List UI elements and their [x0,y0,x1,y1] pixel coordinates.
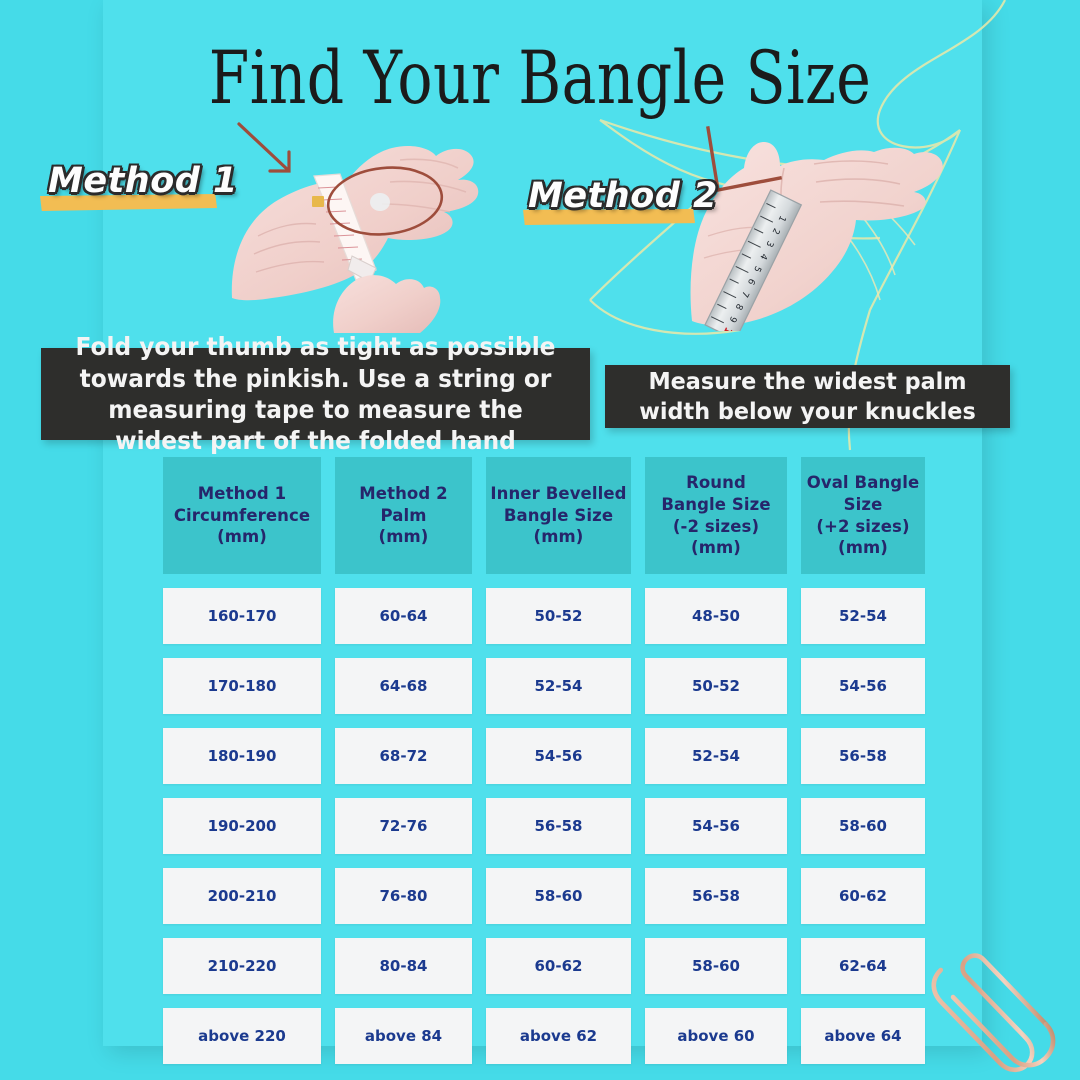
paperclip-icon [916,920,1080,1080]
table-cell: 52-54 [486,658,631,714]
table-header-cell-3: RoundBangle Size(-2 sizes)(mm) [645,457,787,574]
table-row: 160-17060-6450-5248-5052-54 [163,588,921,644]
table-row: 180-19068-7254-5652-5456-58 [163,728,921,784]
table-header-cell-text: Method 1Circumference(mm) [174,483,310,548]
table-row: 210-22080-8460-6258-6062-64 [163,938,921,994]
method-1-instruction-box: Fold your thumb as tight as possible tow… [41,348,590,440]
table-cell: 60-62 [801,868,925,924]
method-1-label: Method 1 [48,161,238,201]
table-row: 170-18064-6852-5450-5254-56 [163,658,921,714]
method-2-photo: 12 34 56 78 9 10 [688,116,958,331]
table-header-cell-text: Inner BevelledBangle Size(mm) [490,483,626,548]
table-cell: above 62 [486,1008,631,1064]
table-cell: 56-58 [645,868,787,924]
table-cell: 62-64 [801,938,925,994]
table-cell: 54-56 [486,728,631,784]
table-cell: 58-60 [486,868,631,924]
table-cell: 76-80 [335,868,472,924]
table-row: 190-20072-7656-5854-5658-60 [163,798,921,854]
table-cell: above 84 [335,1008,472,1064]
table-cell: 68-72 [335,728,472,784]
table-header-cell-0: Method 1Circumference(mm) [163,457,321,574]
table-cell: 54-56 [645,798,787,854]
poster-root: Find Your Bangle Size [0,0,1080,1080]
table-cell: 52-54 [801,588,925,644]
table-cell: 52-54 [645,728,787,784]
table-cell: 170-180 [163,658,321,714]
table-cell: above 64 [801,1008,925,1064]
table-cell: 72-76 [335,798,472,854]
method-1-photo [230,108,520,333]
table-cell: 50-52 [645,658,787,714]
table-header-cell-text: Method 2Palm(mm) [359,483,447,548]
table-cell: 160-170 [163,588,321,644]
table-cell: 48-50 [645,588,787,644]
table-cell: 58-60 [801,798,925,854]
table-cell: 80-84 [335,938,472,994]
table-cell: 200-210 [163,868,321,924]
method-2-instruction-box: Measure the widest palm width below your… [605,365,1010,428]
table-body: 160-17060-6450-5248-5052-54170-18064-685… [163,588,921,1064]
table-row: above 220above 84above 62above 60above 6… [163,1008,921,1064]
table-cell: 210-220 [163,938,321,994]
method-2-instruction-text: Measure the widest palm width below your… [627,367,989,427]
table-header-cell-2: Inner BevelledBangle Size(mm) [486,457,631,574]
table-row: 200-21076-8058-6056-5860-62 [163,868,921,924]
table-cell: 190-200 [163,798,321,854]
table-cell: 60-64 [335,588,472,644]
table-cell: 56-58 [486,798,631,854]
table-cell: 56-58 [801,728,925,784]
table-header-cell-1: Method 2Palm(mm) [335,457,472,574]
table-cell: 180-190 [163,728,321,784]
table-header-cell-text: Oval BangleSize(+2 sizes)(mm) [807,472,920,559]
table-header-cell-4: Oval BangleSize(+2 sizes)(mm) [801,457,925,574]
method-2-label: Method 2 [528,176,718,216]
table-cell: 54-56 [801,658,925,714]
table-cell: 60-62 [486,938,631,994]
table-header-cell-text: RoundBangle Size(-2 sizes)(mm) [661,472,770,559]
table-cell: above 60 [645,1008,787,1064]
table-cell: 64-68 [335,658,472,714]
method-1-instruction-text: Fold your thumb as tight as possible tow… [68,331,563,456]
table-cell: 50-52 [486,588,631,644]
table-cell: above 220 [163,1008,321,1064]
table-cell: 58-60 [645,938,787,994]
bangle-size-table: Method 1Circumference(mm)Method 2Palm(mm… [163,457,921,1078]
table-header-row: Method 1Circumference(mm)Method 2Palm(mm… [163,457,921,574]
